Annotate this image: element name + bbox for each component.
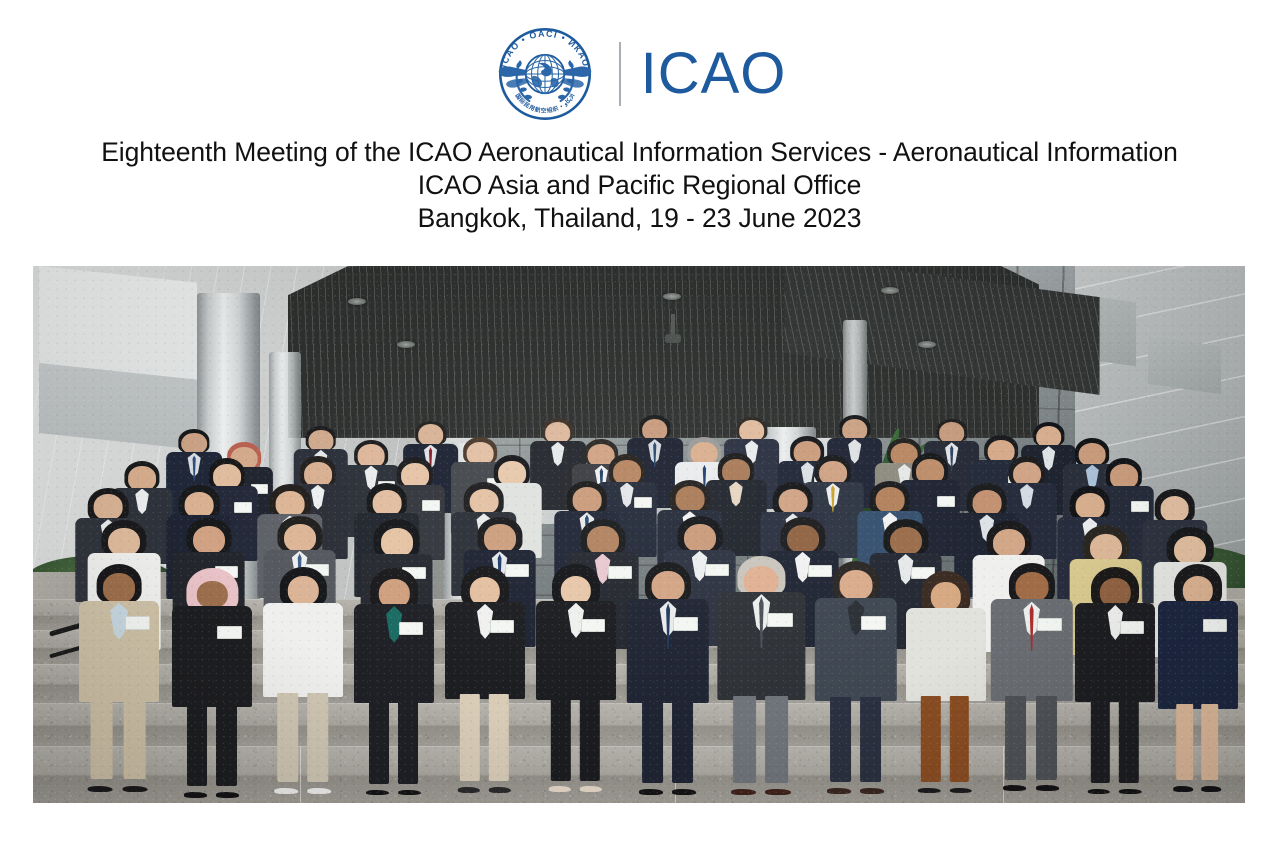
title-line-3: Bangkok, Thailand, 19 - 23 June 2023 xyxy=(0,202,1279,235)
icao-emblem-icon: ICAO • OACI • ИКАО 国际民用航空组织 • الايكاو xyxy=(493,22,597,126)
icao-logo-lockup: ICAO • OACI • ИКАО 国际民用航空组织 • الايكاو xyxy=(0,22,1279,126)
person xyxy=(172,572,252,798)
group-photo xyxy=(33,266,1245,803)
poster-page: ICAO • OACI • ИКАО 国际民用航空组织 • الايكاو xyxy=(0,0,1279,846)
person xyxy=(263,569,343,795)
person xyxy=(627,564,709,795)
person xyxy=(718,559,805,795)
title-line-1: Eighteenth Meeting of the ICAO Aeronauti… xyxy=(0,136,1279,169)
person xyxy=(990,566,1072,792)
person xyxy=(354,570,434,796)
title-line-2: ICAO Asia and Pacific Regional Office xyxy=(0,169,1279,202)
person xyxy=(445,568,525,794)
delegate-crowd xyxy=(33,266,1245,803)
person xyxy=(79,567,159,793)
group-photo-image xyxy=(33,266,1245,803)
person xyxy=(536,567,616,793)
person xyxy=(1158,567,1238,793)
person xyxy=(815,563,897,794)
logo-divider xyxy=(619,42,621,106)
person xyxy=(906,573,986,793)
person xyxy=(1075,569,1155,795)
icao-wordmark: ICAO xyxy=(641,45,787,103)
page-title: Eighteenth Meeting of the ICAO Aeronauti… xyxy=(0,136,1279,235)
